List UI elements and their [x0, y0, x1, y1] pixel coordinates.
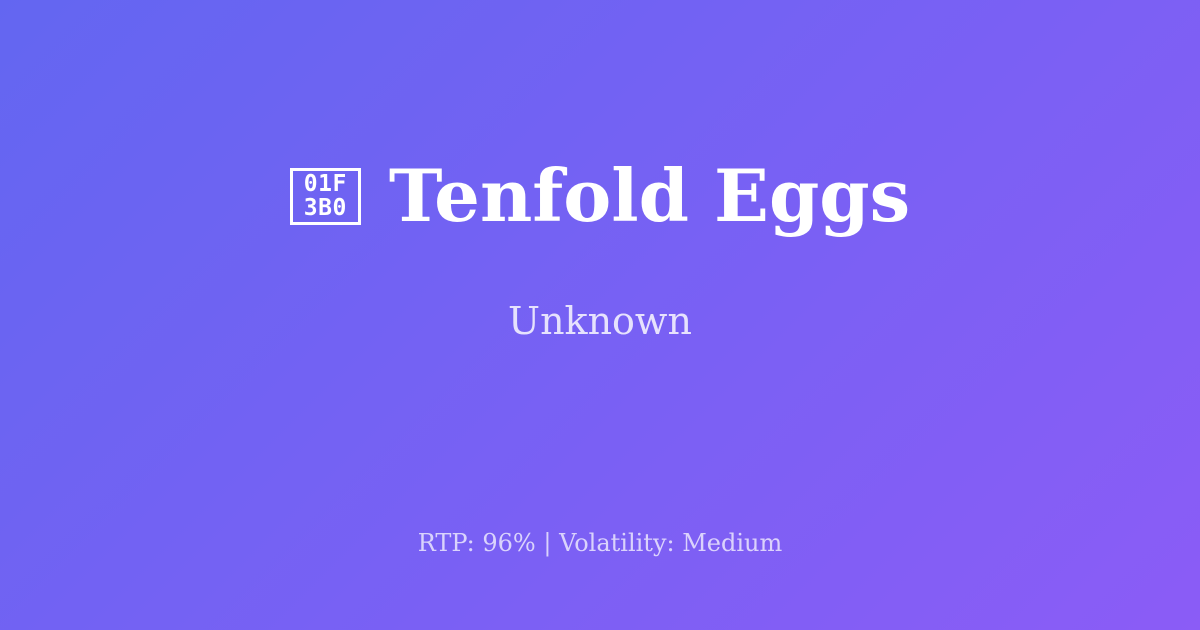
slot-machine-icon: 01F 3B0 — [290, 168, 361, 225]
og-preview-card: 01F 3B0 Tenfold Eggs Unknown RTP: 96% | … — [0, 0, 1200, 630]
page-subtitle: Unknown — [508, 298, 692, 344]
slot-machine-icon-codepoint-line2: 3B0 — [304, 196, 347, 220]
card-center-stack: 01F 3B0 Tenfold Eggs Unknown — [0, 0, 1200, 500]
page-title: Tenfold Eggs — [389, 156, 910, 236]
title-row: 01F 3B0 Tenfold Eggs — [290, 156, 910, 236]
slot-machine-icon-codepoint-line1: 01F — [304, 172, 347, 196]
stats-footer: RTP: 96% | Volatility: Medium — [0, 528, 1200, 558]
